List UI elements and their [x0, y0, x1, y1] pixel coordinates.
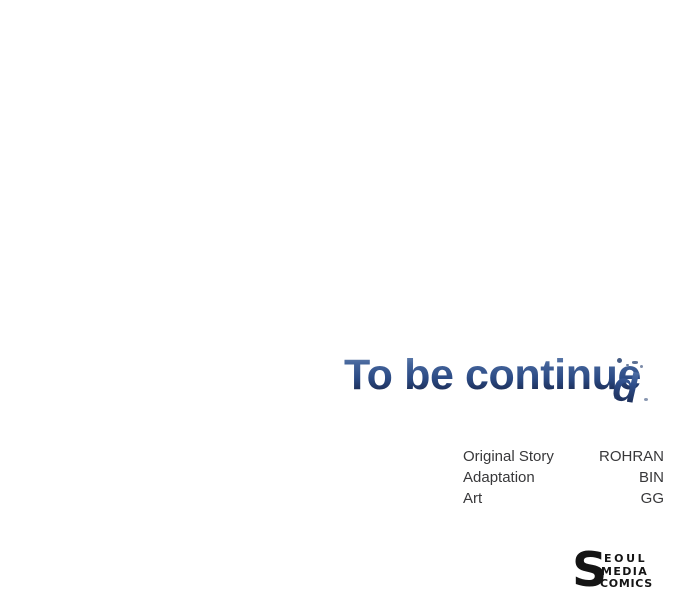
credit-value-original-story: ROHRAN [599, 446, 664, 467]
ink-speckle-icon [614, 396, 617, 399]
ink-speckle-icon [632, 361, 638, 364]
credit-label-art: Art [463, 488, 482, 509]
credit-row: Art GG [463, 488, 664, 509]
to-be-continued-text: To be continue [344, 352, 641, 398]
credit-label-original-story: Original Story [463, 446, 554, 467]
credit-row: Adaptation BIN [463, 467, 664, 488]
credits-block: Original Story ROHRAN Adaptation BIN Art… [463, 446, 664, 509]
credit-value-art: GG [641, 488, 664, 509]
publisher-logo: S EOUL MEDIA COMICS [572, 550, 667, 595]
credit-label-adaptation: Adaptation [463, 467, 535, 488]
ink-speckle-icon [640, 365, 643, 368]
to-be-continued-headline: To be continue d [344, 352, 674, 412]
logo-line-comics: COMICS [600, 578, 653, 591]
logo-wordmark: EOUL MEDIA COMICS [600, 553, 653, 591]
credit-row: Original Story ROHRAN [463, 446, 664, 467]
credit-value-adaptation: BIN [639, 467, 664, 488]
ink-speckle-icon [626, 364, 629, 366]
comic-end-page: To be continue d Original Story ROHRAN A… [0, 0, 690, 605]
ink-speckle-icon [617, 358, 622, 363]
logo-line-eoul: EOUL [600, 553, 653, 566]
ink-speckle-icon [644, 398, 648, 401]
